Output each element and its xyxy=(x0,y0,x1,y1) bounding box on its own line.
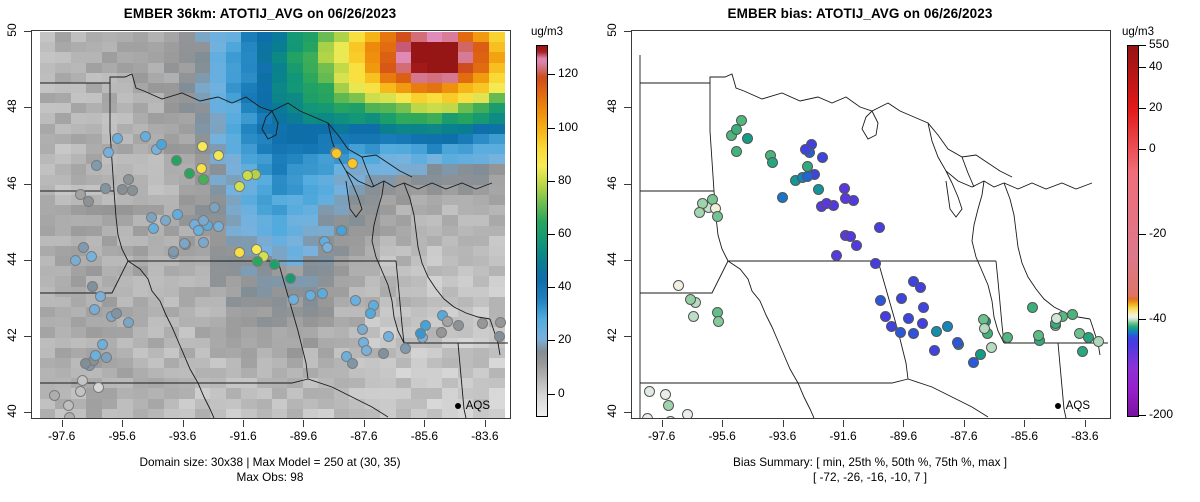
obs-point xyxy=(89,304,100,315)
x-tick-mark xyxy=(1085,420,1086,427)
obs-point xyxy=(198,237,209,248)
colorbar-tick-label: 20 xyxy=(1149,100,1162,114)
obs-point xyxy=(234,181,245,192)
obs-point xyxy=(198,215,209,226)
aqs-legend-label: AQS xyxy=(466,400,490,412)
obs-point xyxy=(193,225,204,236)
obs-point xyxy=(712,211,723,222)
obs-point xyxy=(90,350,101,361)
obs-point xyxy=(117,184,128,195)
obs-point xyxy=(979,323,990,334)
map-plot-bias: AQS xyxy=(631,30,1111,419)
colorbar-tick-mark xyxy=(548,74,555,75)
obs-point xyxy=(103,147,114,158)
obs-point xyxy=(361,345,372,356)
obs-point xyxy=(917,318,928,329)
obs-point xyxy=(731,124,742,135)
colorbar-tick-mark xyxy=(548,234,555,235)
obs-point xyxy=(436,327,447,338)
obs-point xyxy=(903,313,914,324)
map-plot-model: AQS xyxy=(31,30,511,419)
x-tick-mark xyxy=(303,420,304,427)
obs-point xyxy=(731,146,742,157)
obs-point xyxy=(495,317,506,328)
colorbar-tick-label: -20 xyxy=(1149,226,1166,240)
obs-point xyxy=(252,256,263,267)
colorbar-tick-mark xyxy=(1139,234,1146,235)
obs-point xyxy=(802,171,813,182)
obs-point xyxy=(197,141,208,152)
obs-point xyxy=(742,133,753,144)
obs-point xyxy=(378,348,389,359)
colorbar-gradient xyxy=(536,45,548,417)
obs-point xyxy=(694,207,705,218)
obs-point xyxy=(908,328,919,339)
obs-point xyxy=(777,192,788,203)
obs-point xyxy=(986,342,997,353)
colorbar-tick-label: 100 xyxy=(558,120,578,134)
obs-point xyxy=(171,155,182,166)
x-tick-mark xyxy=(903,420,904,427)
obs-point xyxy=(179,238,190,249)
obs-point xyxy=(915,282,926,293)
aqs-legend-bias: AQS xyxy=(1055,400,1090,412)
aqs-legend-label: AQS xyxy=(1066,400,1090,412)
colorbar-model: ug/m3 120100806040200 xyxy=(0,0,90,502)
obs-point xyxy=(1051,313,1062,324)
obs-point xyxy=(168,246,179,257)
obs-point xyxy=(800,144,811,155)
obs-point xyxy=(767,157,778,168)
colorbar-tick-label: -200 xyxy=(1149,407,1173,421)
colorbar-tick-label: 80 xyxy=(558,173,571,187)
x-tick-mark xyxy=(364,420,365,427)
aqs-dot-icon xyxy=(455,403,461,409)
x-tick-label: -91.6 xyxy=(218,429,268,443)
colorbar-tick-label: 0 xyxy=(1149,141,1156,155)
obs-point xyxy=(100,183,111,194)
obs-point xyxy=(874,222,885,233)
x-tick-mark xyxy=(424,420,425,427)
x-tick-label: -95.6 xyxy=(97,429,147,443)
x-tick-mark xyxy=(243,420,244,427)
colorbar-tick-mark xyxy=(548,287,555,288)
obs-point xyxy=(713,316,724,327)
x-tick-mark xyxy=(485,420,486,427)
obs-point xyxy=(952,337,963,348)
obs-point xyxy=(942,321,953,332)
obs-point xyxy=(123,174,134,185)
colorbar-tick-mark xyxy=(1139,108,1146,109)
colorbar-units-model: ug/m3 xyxy=(531,26,563,38)
colorbar-tick-label: -40 xyxy=(1149,311,1166,325)
obs-point xyxy=(1067,309,1078,320)
obs-point xyxy=(269,259,280,270)
x-tick-mark xyxy=(722,420,723,427)
obs-point xyxy=(123,317,134,328)
panel-model: EMBER 36km: ATOTIJ_AVG on 06/26/2023 xyxy=(0,0,600,502)
obs-point xyxy=(383,331,394,342)
obs-point xyxy=(336,225,347,236)
colorbar-tick-label: 0 xyxy=(558,386,565,400)
aqs-legend-model: AQS xyxy=(455,400,490,412)
colorbar-tick-mark xyxy=(1139,319,1146,320)
obs-point xyxy=(1077,346,1088,357)
obs-point xyxy=(831,250,842,261)
colorbar-tick-label: 40 xyxy=(558,279,571,293)
colorbar-tick-mark xyxy=(548,394,555,395)
x-tick-label: -93.6 xyxy=(158,429,208,443)
x-tick-label: -83.6 xyxy=(1060,429,1110,443)
colorbar-tick-label: 40 xyxy=(1149,59,1162,73)
aqs-dot-icon xyxy=(1055,403,1061,409)
x-tick-label: -87.6 xyxy=(939,429,989,443)
obs-point xyxy=(198,174,209,185)
x-tick-label: -87.6 xyxy=(339,429,389,443)
colorbar-tick-mark xyxy=(1139,67,1146,68)
x-tick-label: -83.6 xyxy=(460,429,510,443)
colorbar-gradient xyxy=(1127,45,1139,417)
obs-point xyxy=(196,163,207,174)
panel-bias: EMBER bias: ATOTIJ_AVG on 06/26/2023 xyxy=(600,0,1200,502)
x-tick-label: -93.6 xyxy=(758,429,808,443)
state-boundaries-bias xyxy=(632,31,1110,418)
obs-point xyxy=(347,358,358,369)
obs-point xyxy=(91,160,102,171)
colorbar-tick-mark xyxy=(1139,149,1146,150)
x-tick-mark xyxy=(1024,420,1025,427)
obs-point xyxy=(127,185,138,196)
obs-point xyxy=(840,193,851,204)
obs-point xyxy=(184,168,195,179)
x-tick-label: -85.6 xyxy=(399,429,449,443)
obs-point xyxy=(146,212,157,223)
x-tick-label: -95.6 xyxy=(697,429,747,443)
colorbar-tick-label: 120 xyxy=(558,66,578,80)
figure-root: EMBER 36km: ATOTIJ_AVG on 06/26/2023 xyxy=(0,0,1200,502)
x-tick-label: -89.6 xyxy=(278,429,328,443)
colorbar-tick-mark xyxy=(548,340,555,341)
obs-point xyxy=(1002,332,1013,343)
obs-point xyxy=(97,339,108,350)
obs-point xyxy=(1083,332,1094,343)
colorbar-tick-mark xyxy=(1139,415,1146,416)
obs-point xyxy=(1027,302,1038,313)
x-tick-mark xyxy=(183,420,184,427)
x-tick-mark xyxy=(964,420,965,427)
x-axis-bias: -97.6-95.6-93.6-91.6-89.6-87.6-85.6-83.6 xyxy=(631,420,1111,446)
x-axis-model: -97.6-95.6-93.6-91.6-89.6-87.6-85.6-83.6 xyxy=(31,420,511,446)
obs-point xyxy=(305,290,316,301)
colorbar-tick-label: 550 xyxy=(1149,37,1169,51)
obs-point xyxy=(870,258,881,269)
obs-point xyxy=(365,308,376,319)
colorbar-tick-label: 60 xyxy=(558,226,571,240)
obs-point xyxy=(929,345,940,356)
x-tick-label: -89.6 xyxy=(878,429,928,443)
x-tick-mark xyxy=(122,420,123,427)
x-tick-mark xyxy=(783,420,784,427)
x-tick-label: -91.6 xyxy=(818,429,868,443)
colorbar-tick-mark xyxy=(548,181,555,182)
x-tick-label: -85.6 xyxy=(999,429,1049,443)
colorbar-tick-mark xyxy=(548,128,555,129)
colorbar-tick-label: 20 xyxy=(558,332,571,346)
x-tick-mark xyxy=(843,420,844,427)
colorbar-tick-mark xyxy=(1139,45,1146,46)
colorbar-bias: ug/m3 55040200-20-40-200 xyxy=(600,0,690,502)
obs-point xyxy=(209,202,220,213)
obs-point xyxy=(931,326,942,337)
